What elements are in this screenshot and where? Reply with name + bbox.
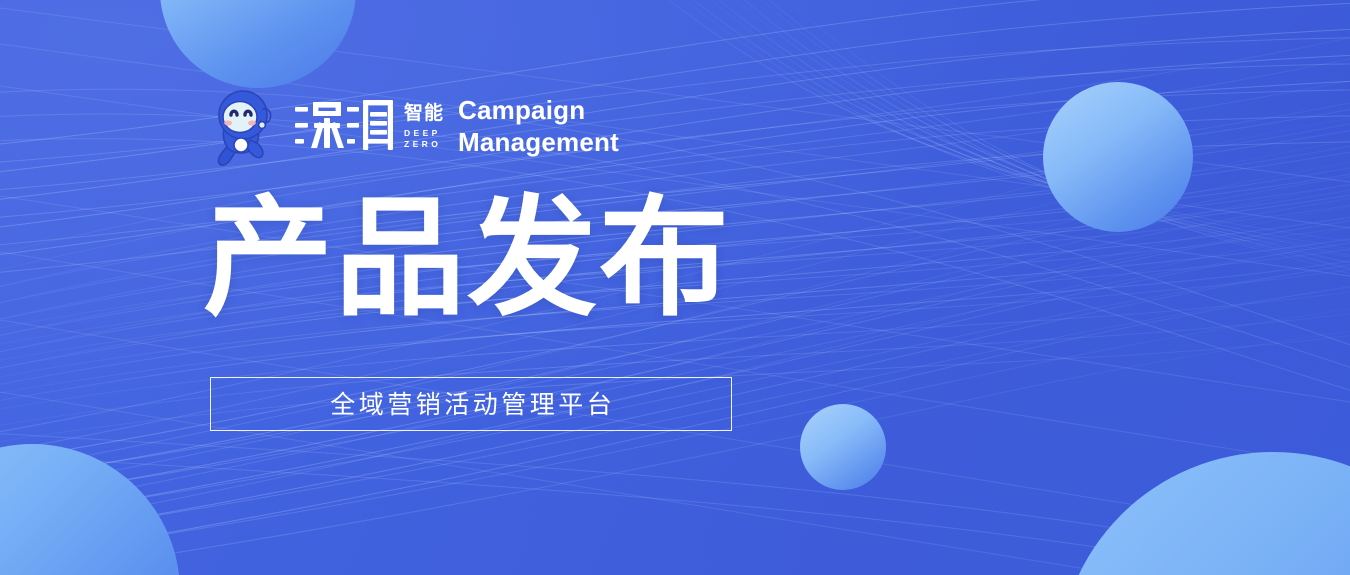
logo-subtext-en-zero: ZERO <box>404 139 444 150</box>
logo-shenyan-wordmark <box>293 98 397 156</box>
hero-subtitle: 全域营销活动管理平台 <box>327 392 616 417</box>
logo-subtext-cn: 智能 <box>404 104 444 123</box>
brand-marks: 智能 DEEP ZERO Campaign Management <box>293 95 619 158</box>
logo-subtext-en-deep: DEEP <box>404 128 444 139</box>
hero-headline: 产品发布 <box>203 186 731 332</box>
brand-title: Campaign Management <box>458 95 619 158</box>
brand-title-line1: Campaign <box>458 95 619 127</box>
robot-mascot-icon <box>207 85 279 169</box>
brand-title-line2: Management <box>458 127 619 159</box>
brand-lockup: 智能 DEEP ZERO Campaign Management <box>207 85 619 169</box>
hero-subtitle-box: 全域营销活动管理平台 <box>210 377 732 431</box>
product-launch-banner: 智能 DEEP ZERO Campaign Management 产品发布 全域… <box>0 0 1350 575</box>
logo-subtext: 智能 DEEP ZERO <box>404 98 444 156</box>
banner-content: 智能 DEEP ZERO Campaign Management 产品发布 全域… <box>0 0 1350 575</box>
